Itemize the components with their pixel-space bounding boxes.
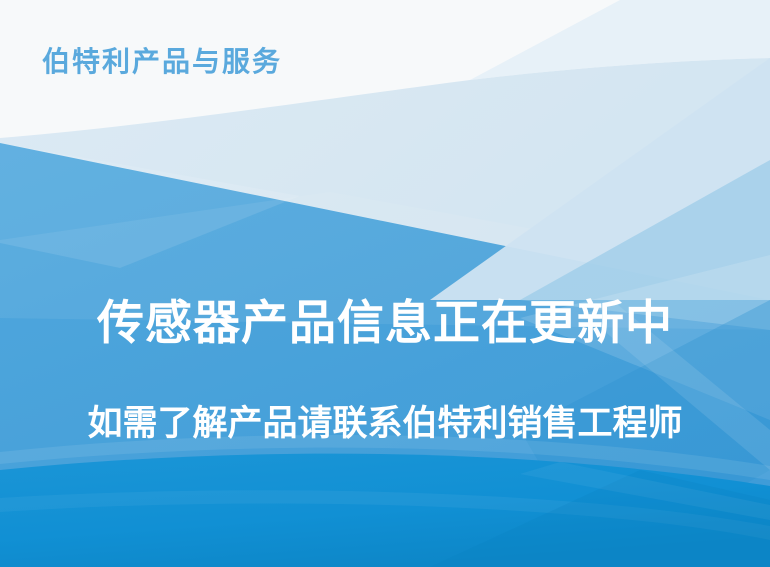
- brand-title: 伯特利产品与服务: [42, 44, 282, 79]
- promo-banner: 伯特利产品与服务 传感器产品信息正在更新中 如需了解产品请联系伯特利销售工程师: [0, 0, 770, 567]
- headline-text: 传感器产品信息正在更新中: [0, 296, 770, 350]
- text-layer: 伯特利产品与服务 传感器产品信息正在更新中 如需了解产品请联系伯特利销售工程师: [0, 0, 770, 567]
- subline-text: 如需了解产品请联系伯特利销售工程师: [0, 404, 770, 444]
